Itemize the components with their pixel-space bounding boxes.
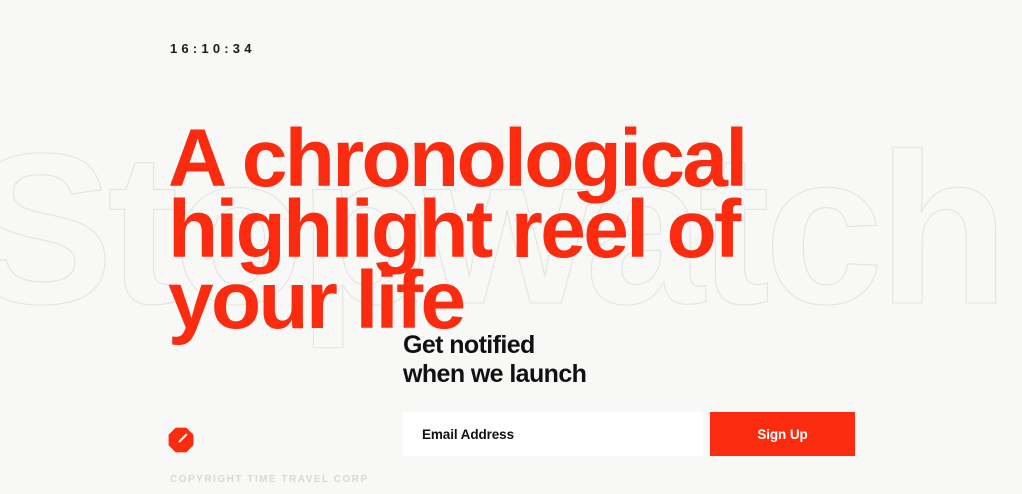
timestamp: 16:10:34: [170, 41, 256, 56]
landing-page: Stopwatch 16:10:34 A chronological highl…: [0, 0, 1022, 494]
headline-line-3: your life: [168, 265, 746, 336]
sign-up-button[interactable]: Sign Up: [710, 412, 855, 456]
copyright-text: COPYRIGHT TIME TRAVEL CORP: [170, 474, 369, 485]
page-title: A chronological highlight reel of your l…: [168, 123, 746, 336]
notify-heading: Get notified when we launch: [403, 331, 586, 389]
notify-heading-line-1: Get notified: [403, 331, 586, 360]
notify-heading-line-2: when we launch: [403, 360, 586, 389]
stopwatch-octagon-icon[interactable]: [168, 427, 194, 453]
signup-form: Sign Up: [403, 412, 855, 456]
email-input[interactable]: [403, 412, 703, 456]
